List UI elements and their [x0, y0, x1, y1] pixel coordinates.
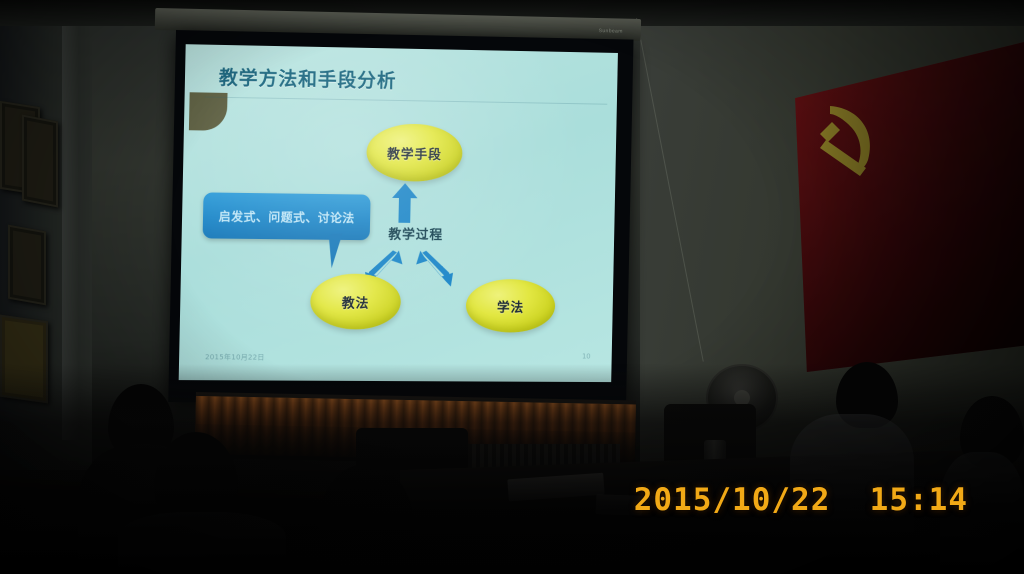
slide-title-rule: [205, 97, 608, 105]
diagram-node-top-label: 教学手段: [387, 143, 442, 163]
diagram-node-right: 学法: [465, 279, 555, 333]
diagram-callout-tail: [329, 233, 346, 268]
photo-scene: Sunbeam 教学方法和手段分析 教学手段 教学过程: [0, 0, 1024, 574]
camera-timestamp: 2015/10/22 15:14: [634, 482, 968, 518]
slide-footer-date: 2015年10月22日: [205, 352, 265, 362]
diagram-node-left: 教法: [310, 273, 402, 329]
certificate-mat: [13, 231, 41, 300]
framed-certificate-3: [8, 225, 46, 306]
diagram-node-top: 教学手段: [366, 123, 463, 182]
arrow-up-icon: [392, 183, 418, 223]
projection-screen: 教学方法和手段分析 教学手段 教学过程: [168, 30, 633, 404]
diagram-center-label: 教学过程: [362, 223, 470, 243]
certificate-mat: [27, 120, 53, 201]
slide-corner-decoration: [189, 92, 228, 131]
diagram-node-right-label: 学法: [497, 296, 525, 315]
foreground-shadow: [0, 364, 1024, 574]
diagram-node-left-label: 教法: [342, 292, 370, 311]
arrow-down-right-icon: [416, 249, 456, 287]
flag-shading: [788, 42, 1024, 372]
slide-page-number: 10: [582, 353, 591, 361]
screen-brand-label: Sunbeam: [599, 28, 623, 35]
diagram-callout-label: 启发式、问题式、讨论法: [219, 207, 355, 226]
framed-certificate-2: [22, 115, 58, 208]
diagram-callout: 启发式、问题式、讨论法: [203, 192, 371, 240]
slide-title: 教学方法和手段分析: [219, 63, 397, 93]
communist-party-flag: [788, 42, 1024, 372]
presentation-slide: 教学方法和手段分析 教学手段 教学过程: [179, 44, 618, 382]
